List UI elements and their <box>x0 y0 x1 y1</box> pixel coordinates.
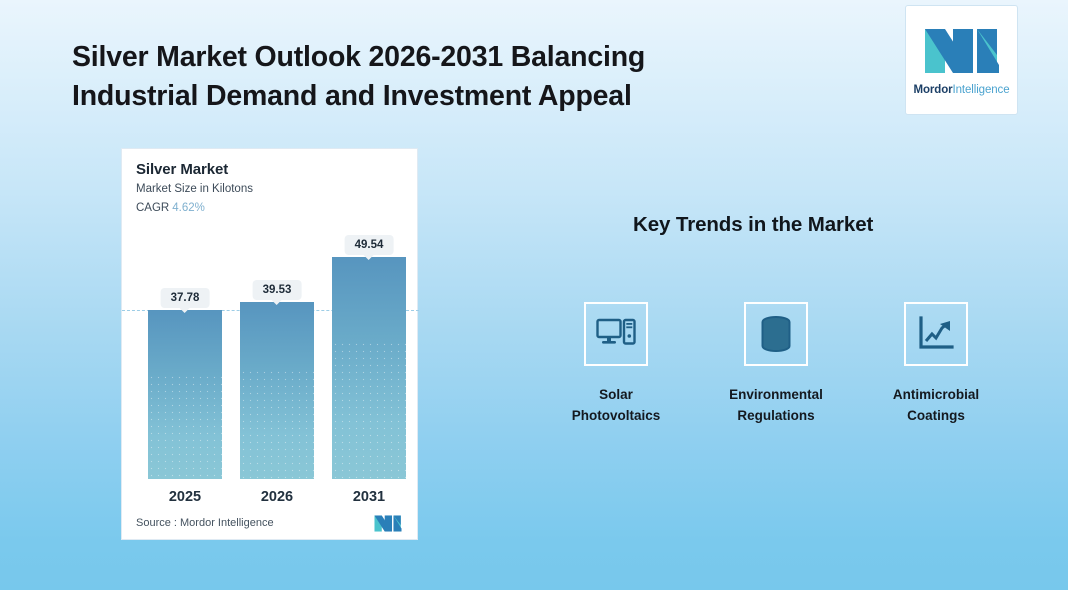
trend-label: Environmental Regulations <box>696 384 856 426</box>
trend-item-environmental-regulations: Environmental Regulations <box>696 302 856 426</box>
page-title-line-2: Industrial Demand and Investment Appeal <box>72 77 772 116</box>
chart-card: Silver Market Market Size in Kilotons CA… <box>121 148 418 540</box>
mordor-intelligence-mark-icon <box>373 514 403 533</box>
trend-icon-frame <box>744 302 808 366</box>
bar-value-label-2031: 49.54 <box>345 235 394 255</box>
key-trends-heading: Key Trends in the Market <box>633 213 873 237</box>
bar-2025 <box>148 310 222 479</box>
bar-texture <box>148 374 222 479</box>
bar-value-label-2026: 39.53 <box>253 280 302 300</box>
bar-texture <box>332 341 406 479</box>
trend-label-line-1: Environmental <box>696 384 856 405</box>
x-axis-label-2026: 2026 <box>261 489 293 505</box>
brand-wordmark-secondary: Intelligence <box>953 84 1010 96</box>
bar-2031 <box>332 257 406 479</box>
brand-wordmark: MordorIntelligence <box>914 84 1010 96</box>
trend-label-line-1: Antimicrobial <box>856 384 1016 405</box>
trend-label-line-2: Photovoltaics <box>536 405 696 426</box>
desktop-computer-icon <box>596 317 636 351</box>
trend-icon-frame <box>584 302 648 366</box>
page-title: Silver Market Outlook 2026-2031 Balancin… <box>72 38 772 116</box>
x-axis-label-2031: 2031 <box>353 489 385 505</box>
chart-plot-area: 37.78 2025 39.53 2026 49.54 2031 <box>122 149 419 541</box>
bar-value-label-2025: 37.78 <box>161 288 210 308</box>
bar-texture <box>240 369 314 479</box>
trend-icon-frame <box>904 302 968 366</box>
bar-2026 <box>240 302 314 479</box>
trend-label-line-2: Coatings <box>856 405 1016 426</box>
growth-chart-icon <box>917 316 955 352</box>
page-title-line-1: Silver Market Outlook 2026-2031 Balancin… <box>72 38 772 77</box>
mordor-intelligence-mark-icon <box>921 25 1003 77</box>
x-axis-label-2025: 2025 <box>169 489 201 505</box>
trend-item-antimicrobial-coatings: Antimicrobial Coatings <box>856 302 1016 426</box>
trend-label-line-2: Regulations <box>696 405 856 426</box>
source-text: Source : Mordor Intelligence <box>136 517 274 529</box>
brand-wordmark-primary: Mordor <box>914 84 953 96</box>
trend-label: Solar Photovoltaics <box>536 384 696 426</box>
trend-item-solar-photovoltaics: Solar Photovoltaics <box>536 302 696 426</box>
brand-logo-plate: MordorIntelligence <box>905 5 1018 115</box>
trend-label-line-1: Solar <box>536 384 696 405</box>
infographic-canvas: Silver Market Outlook 2026-2031 Balancin… <box>0 0 1068 590</box>
chart-source-footer: Source : Mordor Intelligence <box>122 507 417 539</box>
trend-label: Antimicrobial Coatings <box>856 384 1016 426</box>
database-icon <box>759 315 793 353</box>
